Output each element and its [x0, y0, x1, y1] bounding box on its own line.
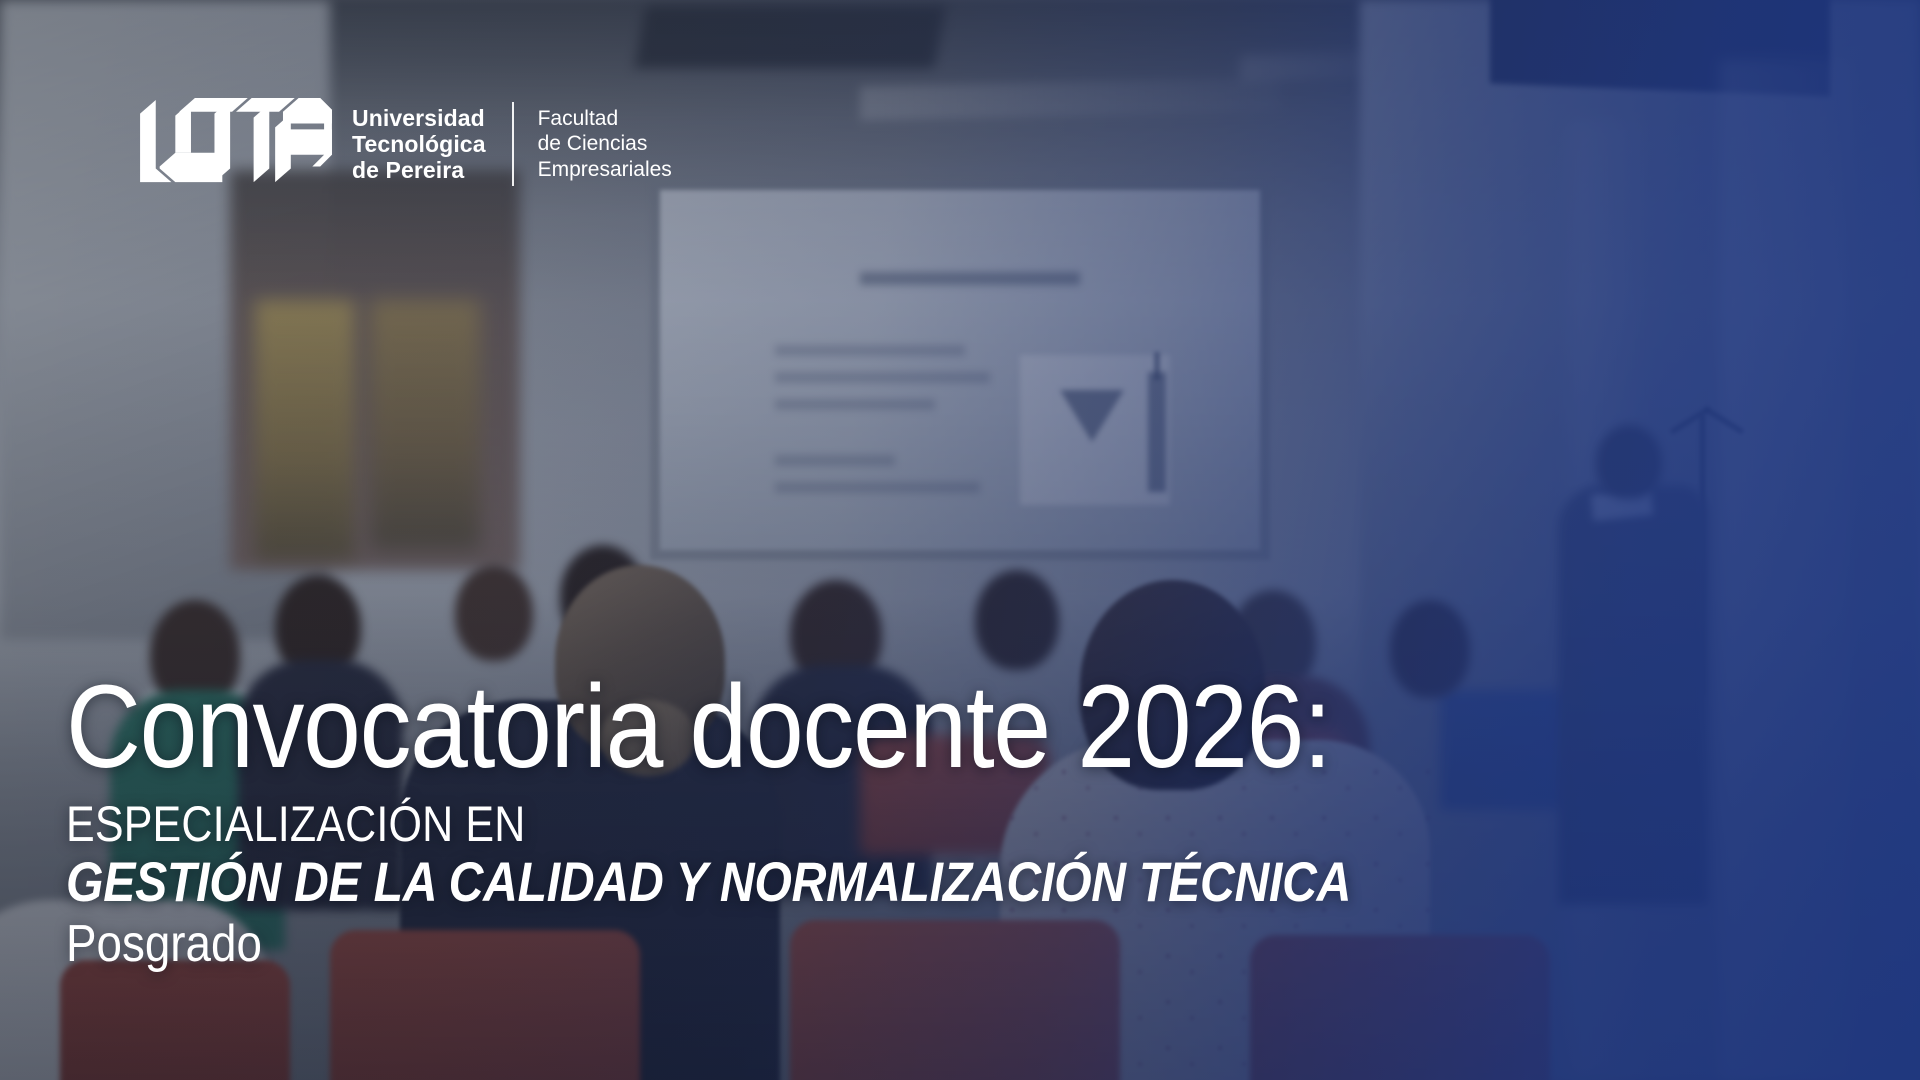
university-name-line-1: Universidad: [352, 105, 486, 131]
university-name-line-2: Tecnológica: [352, 131, 486, 157]
hero-program-name: GESTIÓN DE LA CALIDAD Y NORMALIZACIÓN TÉ…: [66, 852, 1351, 912]
university-name: Universidad Tecnológica de Pereira: [352, 105, 486, 183]
faculty-name-line-1: Facultad: [538, 106, 672, 132]
logo-wordmark: Universidad Tecnológica de Pereira Facul…: [352, 102, 672, 186]
hero-headline: Convocatoria docente 2026:: [66, 668, 1381, 786]
faculty-name: Facultad de Ciencias Empresariales: [538, 106, 672, 183]
hero-subtitle-kicker: ESPECIALIZACIÓN EN: [66, 798, 1351, 850]
utp-logo-icon: [138, 98, 334, 190]
hero-program-level: Posgrado: [66, 917, 1381, 972]
logo-divider: [512, 102, 514, 186]
hero-copy-block: Convocatoria docente 2026: ESPECIALIZACI…: [66, 668, 1560, 972]
promo-banner: Universidad Tecnológica de Pereira Facul…: [0, 0, 1920, 1080]
university-name-line-3: de Pereira: [352, 157, 486, 183]
utp-logo-lockup: Universidad Tecnológica de Pereira Facul…: [138, 98, 672, 190]
faculty-name-line-2: de Ciencias: [538, 131, 672, 157]
faculty-name-line-3: Empresariales: [538, 157, 672, 183]
